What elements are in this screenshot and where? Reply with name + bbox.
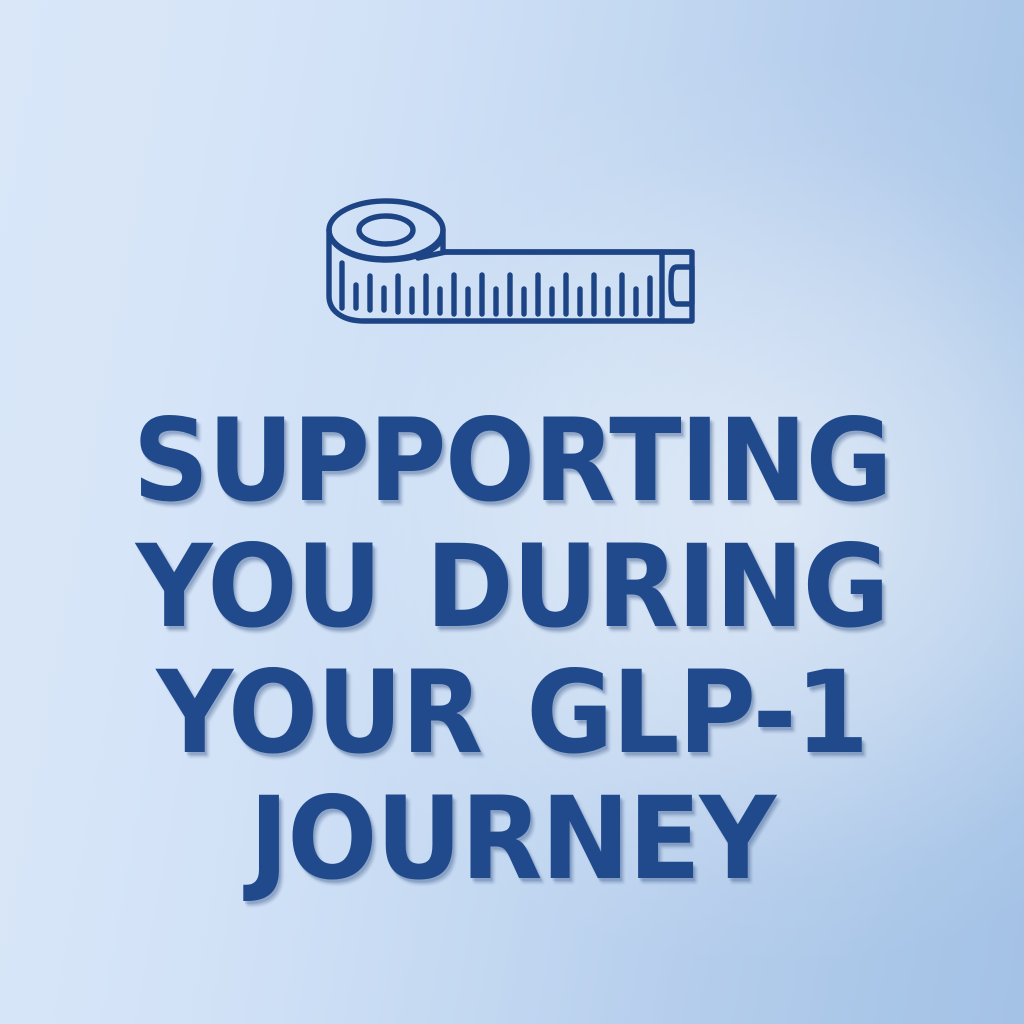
headline-line-4: JOURNEY [36,782,988,908]
tape-measure-icon [296,168,728,336]
poster-canvas: SUPPORTING YOU DURING YOUR GLP-1 JOURNEY [0,0,1024,1024]
ruler-ticks [342,263,650,314]
headline-block: SUPPORTING YOU DURING YOUR GLP-1 JOURNEY [0,404,1024,908]
headline-line-3: YOUR GLP-1 [36,656,988,782]
headline-line-2: YOU DURING [36,530,988,656]
headline-line-1: SUPPORTING [36,404,988,530]
tape-measure-graphic [296,168,728,336]
